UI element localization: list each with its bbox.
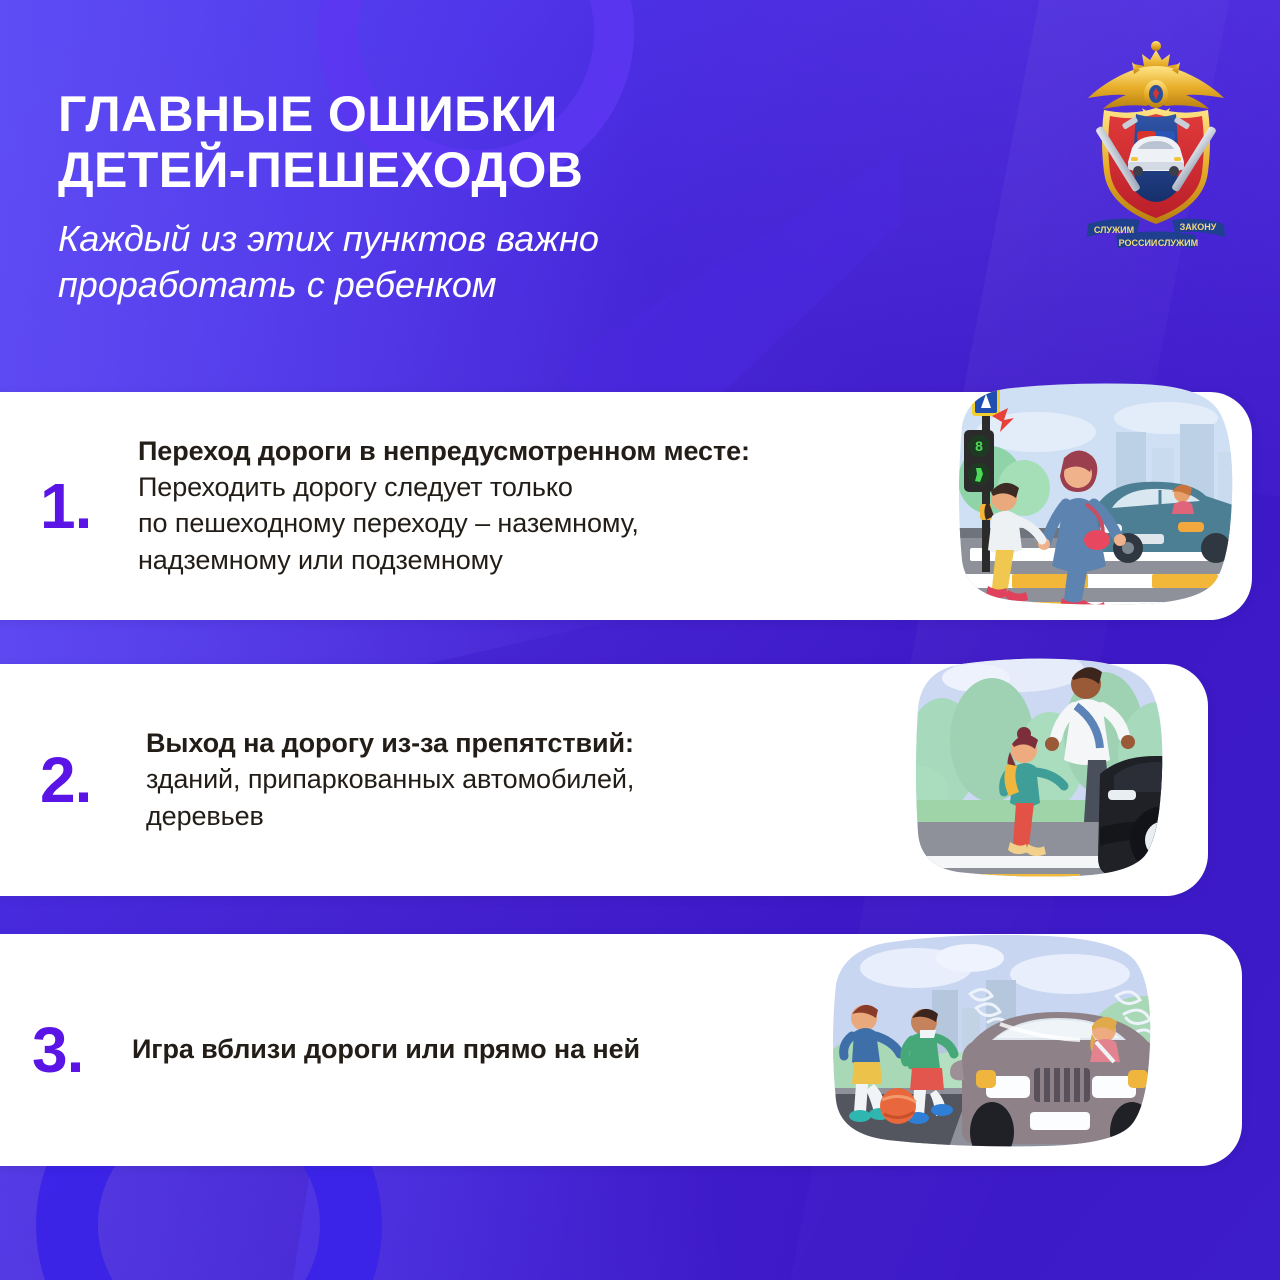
tip-body-2-line-1: зданий, припаркованных автомобилей, — [146, 761, 1192, 797]
tip-body-1-line-3: надземному или подземному — [138, 542, 1236, 578]
motto-center-top: РОССИИ — [1119, 238, 1158, 248]
tip-body-2-line-2: деревьев — [146, 798, 1192, 834]
motto-center-bottom: СЛУЖИМ — [1158, 238, 1198, 248]
tip-heading-1: Переход дороги в непредусмотренном месте… — [138, 434, 1236, 469]
tip-card-3: 3. Игра вблизи дороги или прямо на ней — [0, 934, 1242, 1166]
page-subtitle: Каждый из этих пунктов важно проработать… — [58, 216, 818, 308]
tip-body-1-line-2: по пешеходному переходу – наземному, — [138, 505, 1236, 541]
page-subtitle-line-2: проработать с ребенком — [58, 262, 818, 308]
tip-heading-2: Выход на дорогу из-за препятствий: — [146, 726, 1192, 761]
page-title-line-2: ДЕТЕЙ-ПЕШЕХОДОВ — [58, 142, 818, 198]
tip-text-1: Переход дороги в непредусмотренном месте… — [138, 434, 1252, 578]
tip-number-2: 2. — [40, 748, 146, 812]
page-title-line-1: ГЛАВНЫЕ ОШИБКИ — [58, 86, 818, 142]
tip-card-1: 1. Переход дороги в непредусмотренном ме… — [0, 392, 1252, 620]
tip-text-3: Игра вблизи дороги или прямо на ней — [132, 1032, 1242, 1067]
motto-left: СЛУЖИМ — [1094, 225, 1134, 235]
tip-number-3: 3. — [32, 1018, 138, 1082]
tip-card-2: 2. Выход на дорогу из-за препятствий: зд… — [0, 664, 1208, 896]
tip-number-1: 1. — [40, 474, 146, 538]
tip-text-2: Выход на дорогу из-за препятствий: здани… — [146, 726, 1208, 834]
tip-body-1-line-1: Переходить дорогу следует только — [138, 469, 1236, 505]
tip-heading-3: Игра вблизи дороги или прямо на ней — [132, 1032, 1226, 1067]
header: ГЛАВНЫЕ ОШИБКИ ДЕТЕЙ-ПЕШЕХОДОВ Каждый из… — [58, 86, 818, 308]
police-emblem-icon: СЛУЖИМ ЗАКОНУ РОССИИ СЛУЖИМ — [1070, 36, 1242, 254]
page-title: ГЛАВНЫЕ ОШИБКИ ДЕТЕЙ-ПЕШЕХОДОВ — [58, 86, 818, 198]
page-subtitle-line-1: Каждый из этих пунктов важно — [58, 216, 818, 262]
motto-right: ЗАКОНУ — [1180, 222, 1217, 232]
emblem-shield — [1095, 108, 1217, 224]
